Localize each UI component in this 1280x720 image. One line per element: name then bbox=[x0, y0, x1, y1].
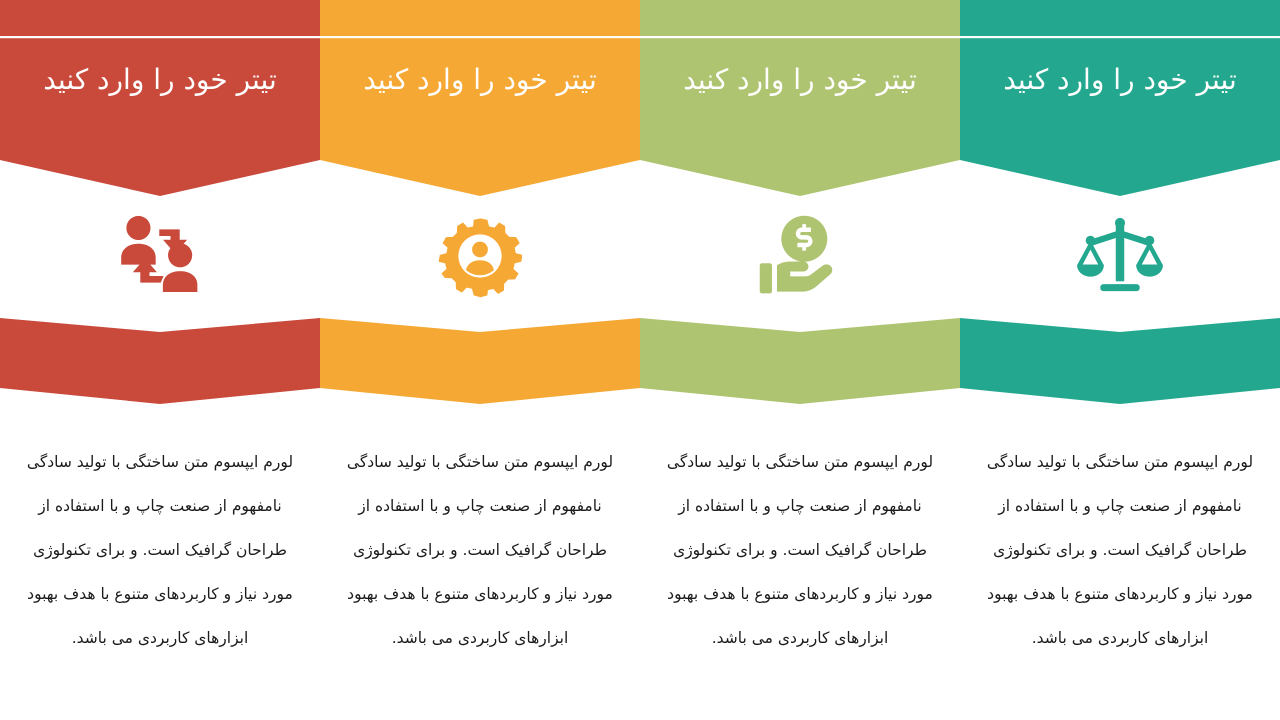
infographic-column-2[interactable]: تیتر خود را وارد کنید لورم ایپسوم متن سا… bbox=[320, 0, 640, 720]
column-3-ribbon-band bbox=[640, 312, 960, 404]
column-1-title: تیتر خود را وارد کنید bbox=[0, 52, 320, 107]
column-4-title: تیتر خود را وارد کنید bbox=[960, 52, 1280, 107]
column-2-ribbon-band bbox=[320, 312, 640, 404]
balance-scale-icon bbox=[1075, 211, 1165, 301]
infographic-column-1[interactable]: تیتر خود را وارد کنید لورم ایپسوم متن سا… bbox=[0, 0, 320, 720]
column-1-icon-wrap bbox=[0, 200, 320, 312]
column-2-header-banner: تیتر خود را وارد کنید bbox=[320, 0, 640, 196]
column-3-body-text: لورم ایپسوم متن ساختگی با تولید سادگی نا… bbox=[640, 440, 960, 660]
column-2-band-shape bbox=[320, 312, 640, 404]
infographic-column-3[interactable]: تیتر خود را وارد کنید لورم ایپسوم bbox=[640, 0, 960, 720]
infographic-board: تیتر خود را وارد کنید لورم ایپسوم متن سا… bbox=[0, 0, 1280, 720]
column-1-band-shape bbox=[0, 312, 320, 404]
column-3-band-shape bbox=[640, 312, 960, 404]
hand-holding-dollar-icon bbox=[754, 210, 846, 302]
column-4-band-shape bbox=[960, 312, 1280, 404]
column-1-ribbon-band bbox=[0, 312, 320, 404]
column-4-body-text: لورم ایپسوم متن ساختگی با تولید سادگی نا… bbox=[960, 440, 1280, 660]
column-3-header-banner: تیتر خود را وارد کنید bbox=[640, 0, 960, 196]
column-1-header-banner: تیتر خود را وارد کنید bbox=[0, 0, 320, 196]
column-4-icon-wrap bbox=[960, 200, 1280, 312]
column-1-body-text: لورم ایپسوم متن ساختگی با تولید سادگی نا… bbox=[0, 440, 320, 660]
column-2-icon-wrap bbox=[320, 200, 640, 312]
user-gear-icon bbox=[438, 214, 522, 298]
people-exchange-icon bbox=[114, 210, 206, 302]
column-4-ribbon-band bbox=[960, 312, 1280, 404]
column-2-title: تیتر خود را وارد کنید bbox=[320, 52, 640, 107]
column-4-header-banner: تیتر خود را وارد کنید bbox=[960, 0, 1280, 196]
infographic-column-4[interactable]: تیتر خود را وارد کنید bbox=[960, 0, 1280, 720]
column-2-body-text: لورم ایپسوم متن ساختگی با تولید سادگی نا… bbox=[320, 440, 640, 660]
column-3-icon-wrap bbox=[640, 200, 960, 312]
column-3-title: تیتر خود را وارد کنید bbox=[640, 52, 960, 107]
